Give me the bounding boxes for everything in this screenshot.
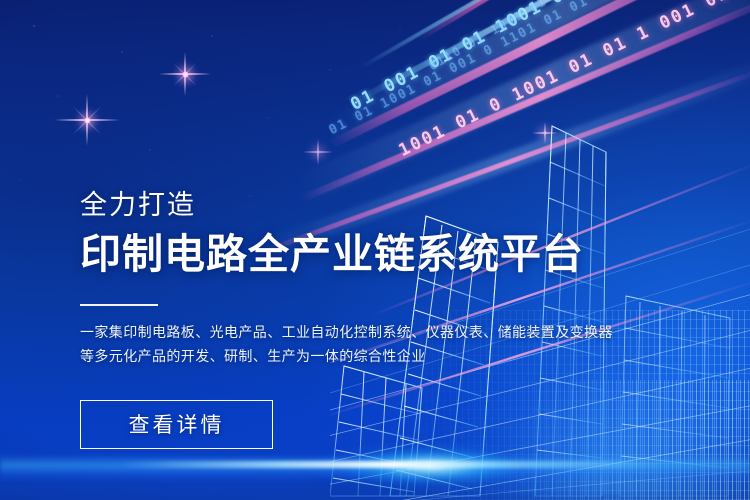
horizon-streak <box>120 461 660 468</box>
hero-eyebrow: 全力打造 <box>80 192 700 219</box>
star-flare-icon-1 <box>54 87 120 153</box>
hero-description-line-1: 一家集印制电路板、光电产品、工业自动化控制系统、仪器仪表、储能装置及变换器 <box>80 320 700 344</box>
hero-banner: 01 001 01 01 1001 01 0110 01 001 1001 01… <box>0 0 750 500</box>
view-details-button[interactable]: 查看详情 <box>80 400 273 449</box>
hero-description: 一家集印制电路板、光电产品、工业自动化控制系统、仪器仪表、储能装置及变换器 等多… <box>80 320 700 368</box>
star-flare-icon-2 <box>159 48 211 100</box>
hero-divider <box>80 304 158 306</box>
hero-description-line-2: 等多元化产品的开发、研制、生产为一体的综合性企业 <box>80 344 700 368</box>
hero-content: 全力打造 印制电路全产业链系统平台 一家集印制电路板、光电产品、工业自动化控制系… <box>80 192 700 449</box>
hero-headline: 印制电路全产业链系统平台 <box>80 232 700 276</box>
